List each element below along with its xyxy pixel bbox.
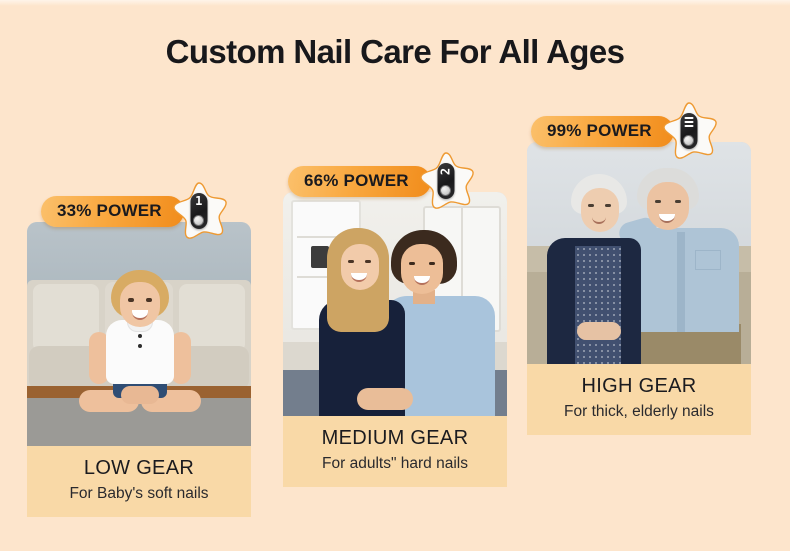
nail-drill-device-icon: 1: [190, 193, 207, 229]
nail-drill-device-icon: [680, 113, 697, 149]
gear-name-low: LOW GEAR: [27, 456, 251, 481]
gear-name-medium: MEDIUM GEAR: [283, 426, 507, 451]
caption-panel-medium: MEDIUM GEAR For adults" hard nails: [283, 416, 507, 487]
device-power-button-icon: [440, 185, 451, 196]
device-power-button-icon: [193, 215, 204, 226]
top-highlight-strip: [0, 0, 790, 6]
device-level-medium: 2: [439, 168, 452, 175]
star-burst-icon: 1: [168, 180, 230, 242]
page-title: Custom Nail Care For All Ages: [0, 33, 790, 71]
gear-desc-medium: For adults" hard nails: [283, 454, 507, 473]
power-label-low: 33% POWER: [57, 201, 162, 221]
device-power-button-icon: [683, 135, 694, 146]
power-pill-medium: 66% POWER: [288, 166, 431, 197]
star-burst-icon: 2: [415, 150, 477, 212]
device-level-low: 1: [195, 195, 202, 208]
gear-card-high: HIGH GEAR For thick, elderly nails: [527, 142, 751, 435]
photo-child: [27, 222, 251, 446]
photo-couple: [283, 192, 507, 416]
power-label-medium: 66% POWER: [304, 171, 409, 191]
photo-elderly-couple: [527, 142, 751, 364]
power-badge-medium: 66% POWER 2: [288, 150, 477, 212]
nail-drill-device-icon: 2: [437, 163, 454, 199]
power-pill-high: 99% POWER: [531, 116, 674, 147]
caption-panel-high: HIGH GEAR For thick, elderly nails: [527, 364, 751, 435]
gear-desc-low: For Baby's soft nails: [27, 484, 251, 503]
power-badge-high: 99% POWER: [531, 100, 720, 162]
power-badge-low: 33% POWER 1: [41, 180, 230, 242]
power-label-high: 99% POWER: [547, 121, 652, 141]
gear-card-low: LOW GEAR For Baby's soft nails: [27, 222, 251, 517]
gear-desc-high: For thick, elderly nails: [527, 402, 751, 421]
gear-card-medium: MEDIUM GEAR For adults" hard nails: [283, 192, 507, 487]
gear-name-high: HIGH GEAR: [527, 374, 751, 399]
device-level-high: [684, 117, 693, 127]
star-burst-icon: [658, 100, 720, 162]
power-pill-low: 33% POWER: [41, 196, 184, 227]
caption-panel-low: LOW GEAR For Baby's soft nails: [27, 446, 251, 517]
